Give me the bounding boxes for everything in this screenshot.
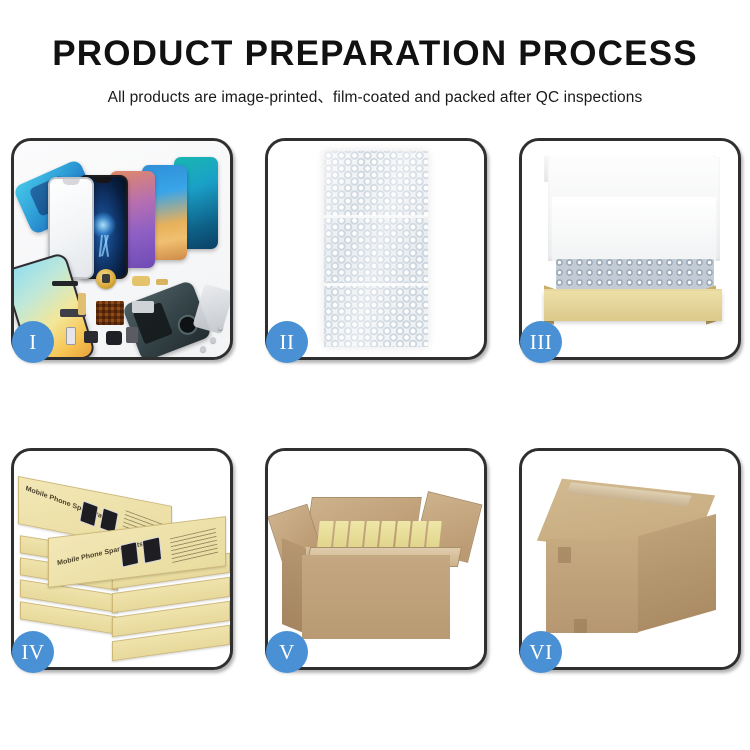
process-step-2: II bbox=[265, 138, 487, 360]
camera-module-part bbox=[106, 331, 122, 345]
process-step-1: I bbox=[11, 138, 233, 360]
step-1-image bbox=[14, 141, 230, 357]
bubble-wrap-sheet bbox=[324, 151, 428, 347]
step-badge-4: IV bbox=[12, 631, 54, 673]
box-phone-graphic bbox=[142, 536, 162, 564]
chip-grid-part bbox=[96, 301, 124, 325]
step-badge-2: II bbox=[266, 321, 308, 363]
process-step-3: III bbox=[519, 138, 741, 360]
antenna-flex-part bbox=[132, 301, 154, 313]
kraft-box-front bbox=[544, 291, 722, 321]
step-6-image bbox=[522, 451, 738, 667]
battery-connector-part bbox=[126, 327, 138, 343]
screw-part bbox=[210, 337, 216, 343]
bubble-wrap-highlight bbox=[324, 151, 428, 347]
small-connector-part bbox=[156, 279, 168, 285]
step-4-image: Mobile Phone Spare Parts Mobile Phone Sp… bbox=[14, 451, 230, 667]
foam-insert bbox=[552, 197, 716, 261]
bubble-wrapped-contents bbox=[556, 259, 714, 291]
earpiece-part bbox=[52, 281, 78, 286]
sealed-carton-right-panel bbox=[638, 514, 716, 632]
vibrator-motor-part bbox=[84, 331, 98, 343]
repair-tool bbox=[193, 284, 230, 335]
tape-tab bbox=[558, 547, 571, 563]
retail-box-stack: Mobile Phone Spare Parts Mobile Phone Sp… bbox=[18, 469, 230, 659]
page-subtitle: All products are image-printed、film-coat… bbox=[0, 85, 750, 107]
screw-part bbox=[200, 346, 206, 352]
step-badge-3: III bbox=[520, 321, 562, 363]
gold-flex-part bbox=[78, 293, 86, 315]
step-2-image bbox=[268, 141, 484, 357]
step-badge-1: I bbox=[12, 321, 54, 363]
process-steps-grid: I II III bbox=[11, 138, 741, 670]
step-badge-5: V bbox=[266, 631, 308, 673]
box-phone-graphic bbox=[120, 541, 139, 567]
phone-notch bbox=[94, 177, 112, 183]
page-title: PRODUCT PREPARATION PROCESS bbox=[0, 36, 750, 73]
step-5-image bbox=[268, 451, 484, 667]
phone-screen-lineup bbox=[22, 155, 228, 267]
phone-notch bbox=[63, 179, 80, 185]
process-step-6: VI bbox=[519, 448, 741, 670]
process-step-5: V bbox=[265, 448, 487, 670]
process-step-4: Mobile Phone Spare Parts Mobile Phone Sp… bbox=[11, 448, 233, 670]
step-3-image bbox=[522, 141, 738, 357]
screw-part bbox=[218, 325, 223, 330]
page-header: PRODUCT PREPARATION PROCESS All products… bbox=[0, 0, 750, 107]
speaker-coil-part bbox=[96, 269, 116, 289]
flex-cable-part bbox=[132, 276, 150, 286]
carton-front-panel bbox=[302, 555, 450, 639]
step-badge-6: VI bbox=[520, 631, 562, 673]
tape-tab bbox=[574, 619, 587, 633]
sim-tray-part bbox=[66, 327, 76, 345]
